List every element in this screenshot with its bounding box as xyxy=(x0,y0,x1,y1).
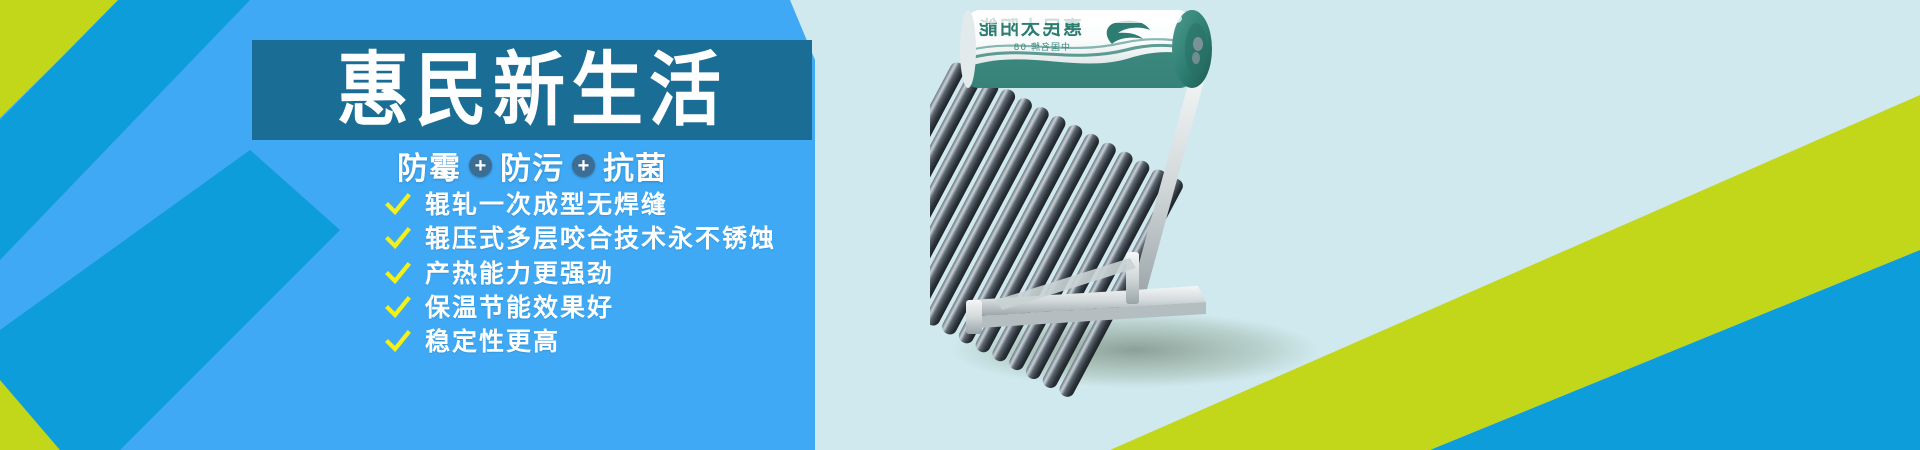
feature-label: 辊压式多层咬合技术永不锈蚀 xyxy=(425,226,776,252)
subtitle-part-2: 防污 xyxy=(500,143,564,188)
subtitle-row: 防霉 + 防污 + 抗菌 xyxy=(252,143,812,188)
feature-item: 稳定性更高 xyxy=(385,329,776,355)
feature-label: 稳定性更高 xyxy=(425,329,560,355)
tank-sub-text: 中国名牌 08 xyxy=(1013,41,1070,53)
promo-banner: 惠民新生活 防霉 + 防污 + 抗菌 辊轧一次成型无焊缝 辊压式多层咬合技术永不… xyxy=(0,0,1920,450)
check-icon xyxy=(385,295,411,321)
tank-highlight xyxy=(976,14,1182,23)
check-icon xyxy=(385,261,411,287)
check-icon xyxy=(385,192,411,218)
check-icon xyxy=(385,329,411,355)
tank-port-1 xyxy=(1193,37,1203,51)
feature-label: 产热能力更强劲 xyxy=(425,261,614,287)
tank-port-2 xyxy=(1192,52,1200,64)
feature-item: 辊轧一次成型无焊缝 xyxy=(385,192,776,218)
subtitle-part-3: 抗菌 xyxy=(603,143,667,188)
feature-item: 保温节能效果好 xyxy=(385,295,776,321)
feature-item: 产热能力更强劲 xyxy=(385,261,776,287)
svg-text:中国名牌 08: 中国名牌 08 xyxy=(1013,41,1070,53)
feature-item: 辊压式多层咬合技术永不锈蚀 xyxy=(385,226,776,252)
feature-list: 辊轧一次成型无焊缝 辊压式多层咬合技术永不锈蚀 产热能力更强劲 保温节能效果好 xyxy=(385,192,776,355)
page-title: 惠民新生活 xyxy=(337,50,727,131)
feature-label: 辊轧一次成型无焊缝 xyxy=(425,192,668,218)
water-tank: 惠民太阳能 中国名牌 08 xyxy=(960,10,1212,92)
subtitle-part-1: 防霉 xyxy=(397,143,461,188)
tank-left-cap xyxy=(960,10,976,88)
product-image: 惠民太阳能 中国名牌 08 xyxy=(930,0,1490,450)
solar-water-heater-illustration: 惠民太阳能 中国名牌 08 xyxy=(930,0,1490,450)
plus-icon-1: + xyxy=(469,154,492,177)
headline-bar: 惠民新生活 xyxy=(252,40,812,140)
feature-label: 保温节能效果好 xyxy=(425,295,614,321)
check-icon xyxy=(385,226,411,252)
plus-icon-2: + xyxy=(572,154,595,177)
